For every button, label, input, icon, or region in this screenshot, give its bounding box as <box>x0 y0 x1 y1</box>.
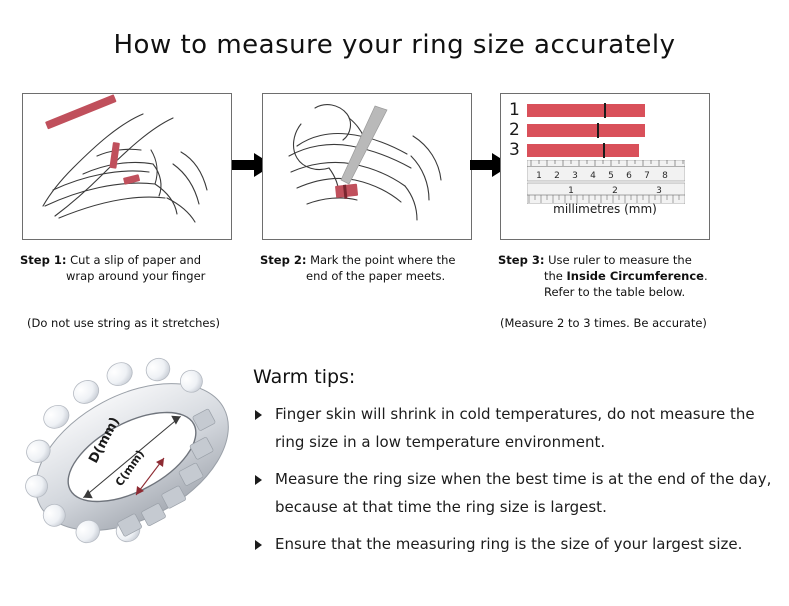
step-3-illustration-panel: 1 2 3 <box>500 93 710 240</box>
ring-diagram: D(mm) C(mm) <box>18 352 246 567</box>
warm-tip-item-1: Finger skin will shrink in cold temperat… <box>253 400 773 456</box>
strip-number-2: 2 <box>509 122 527 139</box>
step-3-inside-circumference: Inside Circumference <box>567 269 704 283</box>
warm-tip-item-2: Measure the ring size when the best time… <box>253 465 773 521</box>
paper-strip-3 <box>527 144 639 157</box>
strip-number-1: 1 <box>509 102 527 119</box>
step-3-line2-pre: the <box>544 269 567 283</box>
paper-strip-row-2: 2 <box>509 122 645 139</box>
step-2-illustration-panel <box>262 93 472 240</box>
ruler-graphic: 1 2 3 4 5 6 7 8 1 2 3 <box>527 160 685 208</box>
warm-tip-text-3: Ensure that the measuring ring is the si… <box>275 530 773 558</box>
step-1-caption: Step 1: Cut a slip of paper and wrap aro… <box>20 252 240 284</box>
svg-text:8: 8 <box>662 171 668 181</box>
warm-tip-item-3: Ensure that the measuring ring is the si… <box>253 530 773 558</box>
step-3-line1: Use ruler to measure the <box>544 253 691 267</box>
paper-strip-2 <box>527 124 645 137</box>
step-3-note: (Measure 2 to 3 times. Be accurate) <box>500 316 707 330</box>
strip-mark-3 <box>603 143 605 158</box>
triangle-bullet-icon-3 <box>255 540 262 550</box>
svg-text:7: 7 <box>644 171 650 181</box>
triangle-bullet-icon-2 <box>255 475 262 485</box>
step-2-lead: Step 2: <box>260 253 306 267</box>
hand-marking-paper-with-pen-illustration <box>263 94 471 239</box>
warm-tips-list: Finger skin will shrink in cold temperat… <box>253 400 773 567</box>
svg-text:5: 5 <box>608 171 614 181</box>
step-3-line2: the Inside Circumference. <box>498 268 738 284</box>
step-1-illustration-panel <box>22 93 232 240</box>
ruler-unit-label: millimetres (mm) <box>501 202 709 216</box>
paper-strip-row-1: 1 <box>509 102 645 119</box>
hand-with-paper-slip-illustration <box>23 94 231 239</box>
svg-text:1: 1 <box>568 186 574 196</box>
step-1-note: (Do not use string as it stretches) <box>27 316 220 330</box>
strip-number-3: 3 <box>509 142 527 159</box>
step-1-line1: Cut a slip of paper and <box>66 253 201 267</box>
step-3-caption: Step 3: Use ruler to measure the the Ins… <box>498 252 738 300</box>
svg-text:3: 3 <box>572 171 578 181</box>
svg-text:2: 2 <box>612 186 618 196</box>
triangle-bullet-icon-1 <box>255 410 262 420</box>
svg-text:6: 6 <box>626 171 632 181</box>
ruler-scales: 1 2 3 4 5 6 7 8 1 2 3 <box>527 160 685 204</box>
page-title: How to measure your ring size accurately <box>0 30 789 60</box>
step-1-lead: Step 1: <box>20 253 66 267</box>
step-2-line2: end of the paper meets. <box>260 268 482 284</box>
strip-mark-2 <box>597 123 599 138</box>
step-2-line1: Mark the point where the <box>306 253 455 267</box>
strip-mark-1 <box>604 103 606 118</box>
step-2-caption: Step 2: Mark the point where the end of … <box>260 252 482 284</box>
svg-text:4: 4 <box>590 171 596 181</box>
svg-text:3: 3 <box>656 186 662 196</box>
paper-strip-row-3: 3 <box>509 142 639 159</box>
svg-text:2: 2 <box>554 171 560 181</box>
warm-tip-text-1: Finger skin will shrink in cold temperat… <box>275 400 773 456</box>
paper-strip-1 <box>527 104 645 117</box>
warm-tip-text-2: Measure the ring size when the best time… <box>275 465 773 521</box>
warm-tips-heading: Warm tips: <box>253 366 355 388</box>
step-3-lead: Step 3: <box>498 253 544 267</box>
svg-text:1: 1 <box>536 171 542 181</box>
step-3-line2-post: . <box>704 269 708 283</box>
step-3-line3: Refer to the table below. <box>498 284 738 300</box>
step-1-line2: wrap around your finger <box>20 268 240 284</box>
